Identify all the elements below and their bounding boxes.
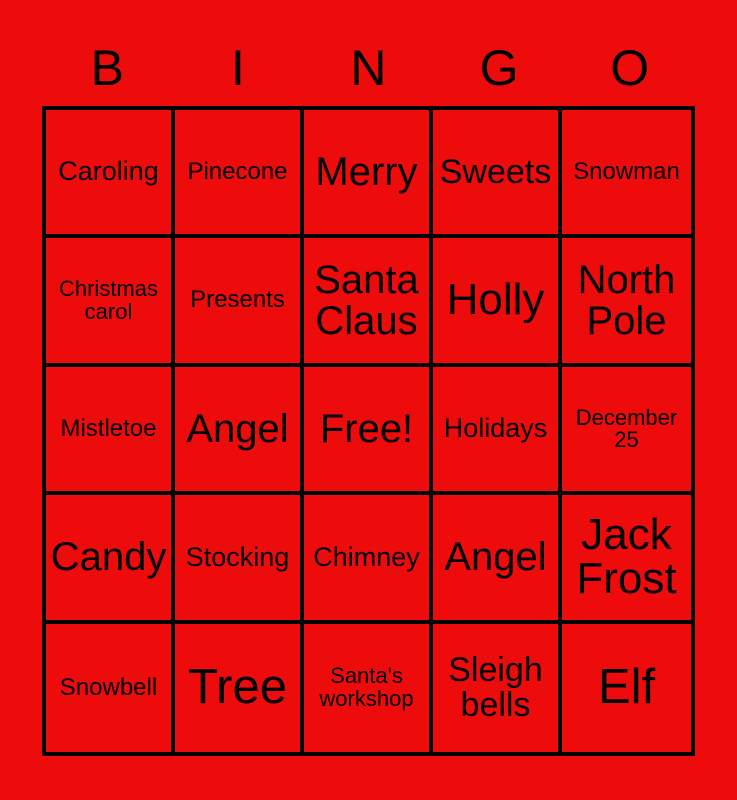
bingo-cell[interactable]: Chimney — [304, 495, 433, 623]
header-letter-o: O — [564, 43, 695, 93]
bingo-cell[interactable]: Santa's workshop — [304, 624, 433, 752]
bingo-cell-free[interactable]: Free! — [304, 367, 433, 495]
bingo-cell-label: Sleigh bells — [437, 653, 554, 722]
bingo-cell-label: Angel — [437, 537, 554, 578]
bingo-cell-label: Santa's workshop — [308, 665, 425, 710]
bingo-cell-label: North Pole — [566, 260, 687, 342]
bingo-cell-label: Santa Claus — [308, 260, 425, 342]
bingo-cell[interactable]: Angel — [433, 495, 562, 623]
bingo-cell[interactable]: Snowman — [562, 110, 691, 238]
bingo-cell-label: Free! — [308, 409, 425, 450]
bingo-cell[interactable]: Presents — [175, 238, 304, 366]
bingo-cell-label: Snowman — [566, 160, 687, 184]
bingo-cell-label: Chimney — [308, 544, 425, 572]
bingo-grid: Caroling Pinecone Merry Sweets Snowman C… — [42, 106, 695, 756]
bingo-cell-label: Mistletoe — [50, 417, 167, 441]
bingo-cell-label: Snowbell — [50, 676, 167, 700]
bingo-cell-label: Sweets — [437, 155, 554, 190]
bingo-cell[interactable]: Pinecone — [175, 110, 304, 238]
bingo-cell-label: Jack Frost — [566, 513, 687, 603]
bingo-cell-label: Elf — [566, 663, 687, 713]
bingo-cell[interactable]: Sleigh bells — [433, 624, 562, 752]
bingo-cell[interactable]: Elf — [562, 624, 691, 752]
bingo-cell-label: Christmas carol — [50, 278, 167, 323]
bingo-cell[interactable]: Candy — [46, 495, 175, 623]
header-letter-i: I — [173, 43, 304, 93]
bingo-cell[interactable]: Holidays — [433, 367, 562, 495]
bingo-cell-label: Candy — [50, 537, 167, 578]
bingo-cell[interactable]: Merry — [304, 110, 433, 238]
bingo-cell-label: Angel — [179, 409, 296, 450]
bingo-cell[interactable]: December 25 — [562, 367, 691, 495]
bingo-cell[interactable]: Angel — [175, 367, 304, 495]
bingo-cell[interactable]: Tree — [175, 624, 304, 752]
bingo-card: B I N G O Caroling Pinecone Merry Sweets… — [0, 0, 737, 800]
bingo-cell[interactable]: Sweets — [433, 110, 562, 238]
bingo-header-row: B I N G O — [42, 34, 695, 102]
bingo-cell[interactable]: Mistletoe — [46, 367, 175, 495]
bingo-cell-label: Holly — [437, 278, 554, 323]
bingo-cell-label: Stocking — [179, 544, 296, 572]
bingo-cell[interactable]: North Pole — [562, 238, 691, 366]
bingo-cell-label: Tree — [179, 663, 296, 713]
bingo-cell-label: Pinecone — [179, 160, 296, 184]
bingo-cell[interactable]: Holly — [433, 238, 562, 366]
bingo-cell[interactable]: Christmas carol — [46, 238, 175, 366]
bingo-cell[interactable]: Santa Claus — [304, 238, 433, 366]
bingo-cell-label: Holidays — [437, 415, 554, 443]
bingo-cell-label: Merry — [308, 152, 425, 193]
bingo-cell[interactable]: Jack Frost — [562, 495, 691, 623]
header-letter-g: G — [434, 43, 565, 93]
bingo-cell-label: Presents — [179, 288, 296, 312]
header-letter-b: B — [42, 43, 173, 93]
bingo-cell-label: Caroling — [50, 158, 167, 186]
bingo-cell[interactable]: Stocking — [175, 495, 304, 623]
bingo-cell[interactable]: Caroling — [46, 110, 175, 238]
bingo-cell[interactable]: Snowbell — [46, 624, 175, 752]
bingo-cell-label: December 25 — [566, 407, 687, 452]
header-letter-n: N — [303, 43, 434, 93]
